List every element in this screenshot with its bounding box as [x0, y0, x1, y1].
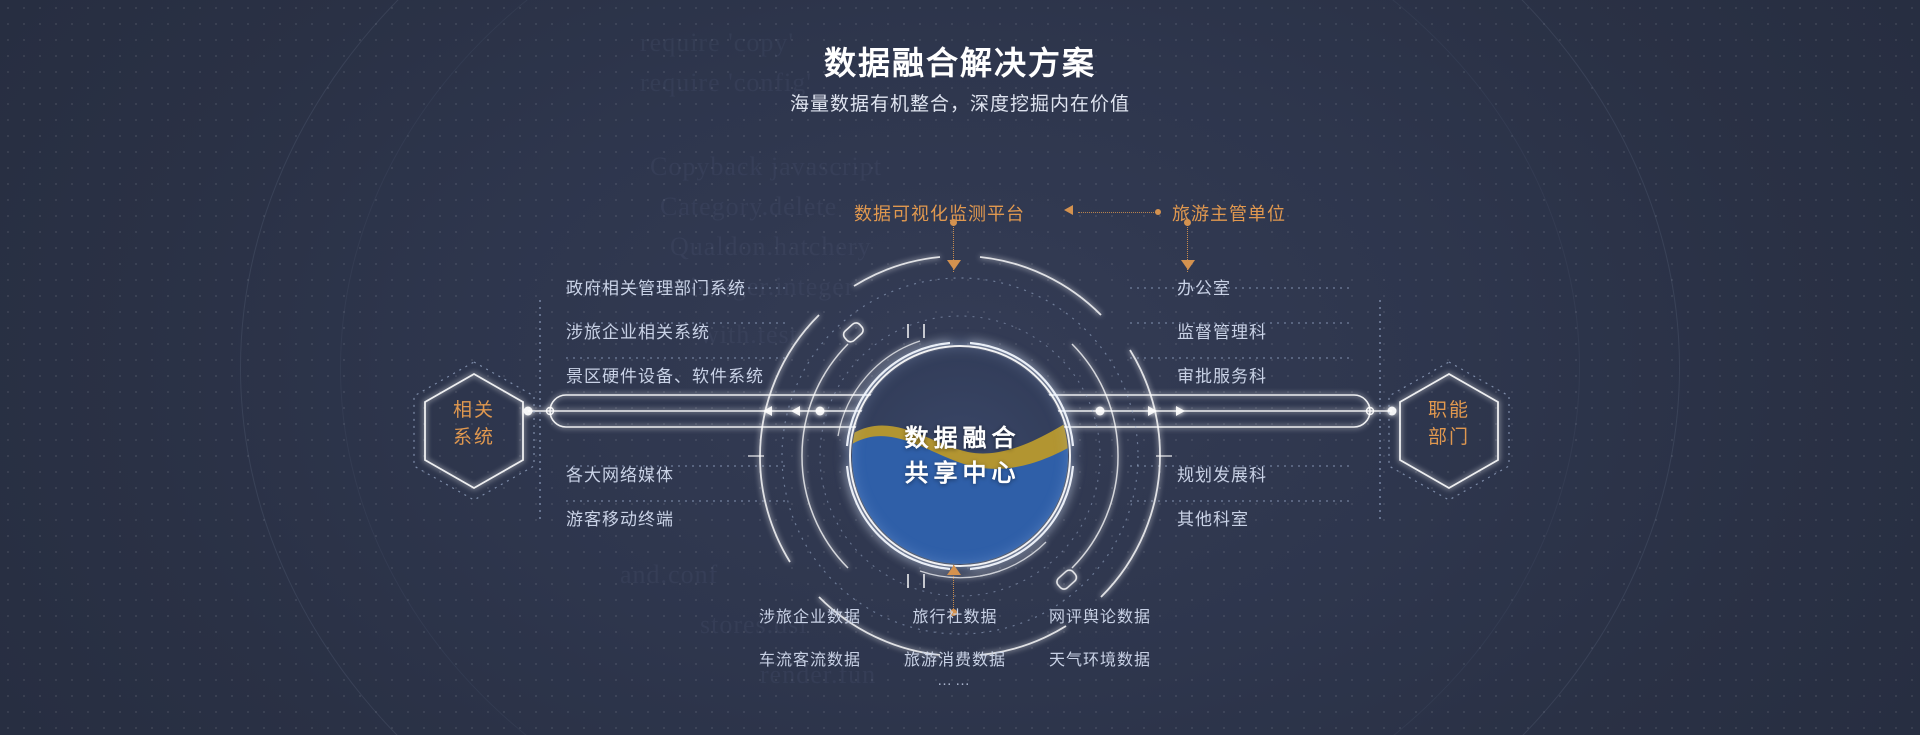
list-item[interactable]: 涉旅企业相关系统: [566, 318, 764, 343]
left-sources-top: 政府相关管理部门系统 涉旅企业相关系统 景区硬件设备、软件系统: [566, 274, 764, 406]
arrow-down-icon: [1181, 260, 1195, 270]
list-item[interactable]: 政府相关管理部门系统: [566, 274, 764, 299]
arrow-left-icon: [1064, 205, 1073, 215]
hexagon-related-systems[interactable]: 相关 系统: [410, 360, 538, 502]
data-row: 车流客流数据 旅游消费数据 天气环境数据: [740, 646, 1170, 670]
data-ellipsis: ……: [740, 672, 1170, 689]
list-item[interactable]: 办公室: [1177, 274, 1267, 299]
list-item[interactable]: 规划发展科: [1177, 461, 1267, 486]
data-cell[interactable]: 旅行社数据: [885, 603, 1025, 627]
data-cell[interactable]: 车流客流数据: [740, 646, 880, 670]
hexagon-label-line1: 职能: [1385, 397, 1513, 424]
hexagon-functional-departments[interactable]: 职能 部门: [1385, 360, 1513, 502]
right-departments-top: 办公室 监督管理科 审批服务科: [1177, 274, 1267, 406]
infographic-stage: require 'copy' require 'config' Copyback…: [0, 0, 1920, 735]
connector-authority-to-core: [1181, 222, 1195, 272]
connector-dot: [950, 219, 957, 226]
arrow-up-icon: [947, 565, 961, 575]
page-subtitle: 海量数据有机整合，深度挖掘内在价值: [0, 89, 1920, 116]
list-item[interactable]: 各大网络媒体: [566, 461, 674, 486]
label-visualization-platform[interactable]: 数据可视化监测平台: [854, 200, 1025, 226]
dotted-connector-top: [1078, 212, 1156, 213]
connector-platform-to-core: [947, 222, 961, 272]
core-circle: [852, 348, 1068, 564]
list-item[interactable]: 其他科室: [1177, 505, 1267, 530]
left-sources-bottom: 各大网络媒体 游客移动终端: [566, 461, 674, 549]
hexagon-label: 职能 部门: [1385, 397, 1513, 451]
hexagon-label-line2: 系统: [410, 424, 538, 451]
connector-dot: [1184, 219, 1191, 226]
data-cell[interactable]: 网评舆论数据: [1030, 603, 1170, 627]
right-departments-bottom: 规划发展科 其他科室: [1177, 461, 1267, 549]
list-item[interactable]: 审批服务科: [1177, 362, 1267, 387]
list-item[interactable]: 游客移动终端: [566, 505, 674, 530]
data-row: 涉旅企业数据 旅行社数据 网评舆论数据: [740, 603, 1170, 627]
list-item[interactable]: 监督管理科: [1177, 318, 1267, 343]
data-cell[interactable]: 旅游消费数据: [885, 646, 1025, 670]
hexagon-label: 相关 系统: [410, 397, 538, 451]
page-title: 数据融合解决方案: [0, 38, 1920, 84]
arrow-down-icon: [947, 260, 961, 270]
connector-dot: [1155, 209, 1161, 215]
hexagon-label-line2: 部门: [1385, 424, 1513, 451]
list-item[interactable]: 景区硬件设备、软件系统: [566, 362, 764, 387]
data-cell[interactable]: 涉旅企业数据: [740, 603, 880, 627]
data-cell[interactable]: 天气环境数据: [1030, 646, 1170, 670]
hexagon-label-line1: 相关: [410, 397, 538, 424]
